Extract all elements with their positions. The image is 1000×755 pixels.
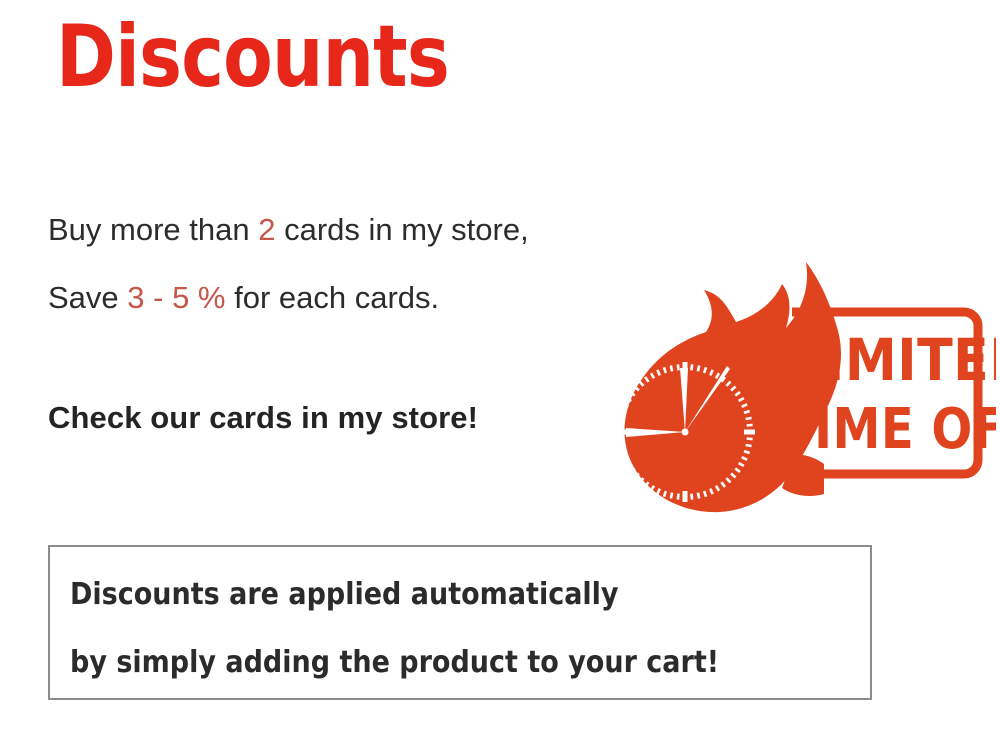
offer-line-1-prefix: Buy more than (48, 212, 258, 247)
note-line-2: by simply adding the product to your car… (70, 629, 781, 697)
offer-quantity-value: 2 (258, 212, 275, 247)
auto-discount-note-box: Discounts are applied automatically by s… (48, 545, 872, 700)
offer-discount-range: 3 - 5 % (127, 280, 225, 315)
promo-banner: Discounts Buy more than 2 cards in my st… (0, 0, 1000, 755)
offer-line-2-prefix: Save (48, 280, 127, 315)
badge-graphic: LIMITED TIME OFFER (596, 258, 996, 523)
offer-label-line-1: LIMITED (791, 327, 996, 394)
offer-line-1: Buy more than 2 cards in my store, (48, 196, 668, 264)
store-call-to-action: Check our cards in my store! (48, 400, 478, 436)
page-title: Discounts (56, 12, 449, 102)
note-line-1: Discounts are applied automatically (70, 561, 781, 629)
auto-discount-note-text: Discounts are applied automatically by s… (70, 561, 860, 697)
limited-time-offer-badge: LIMITED TIME OFFER (596, 258, 996, 523)
offer-line-2-suffix: for each cards. (226, 280, 440, 315)
offer-line-2: Save 3 - 5 % for each cards. (48, 264, 668, 332)
offer-text-block: Buy more than 2 cards in my store, Save … (48, 196, 668, 332)
offer-line-1-suffix: cards in my store, (275, 212, 528, 247)
offer-label-line-2: TIME OFFER (781, 398, 996, 462)
